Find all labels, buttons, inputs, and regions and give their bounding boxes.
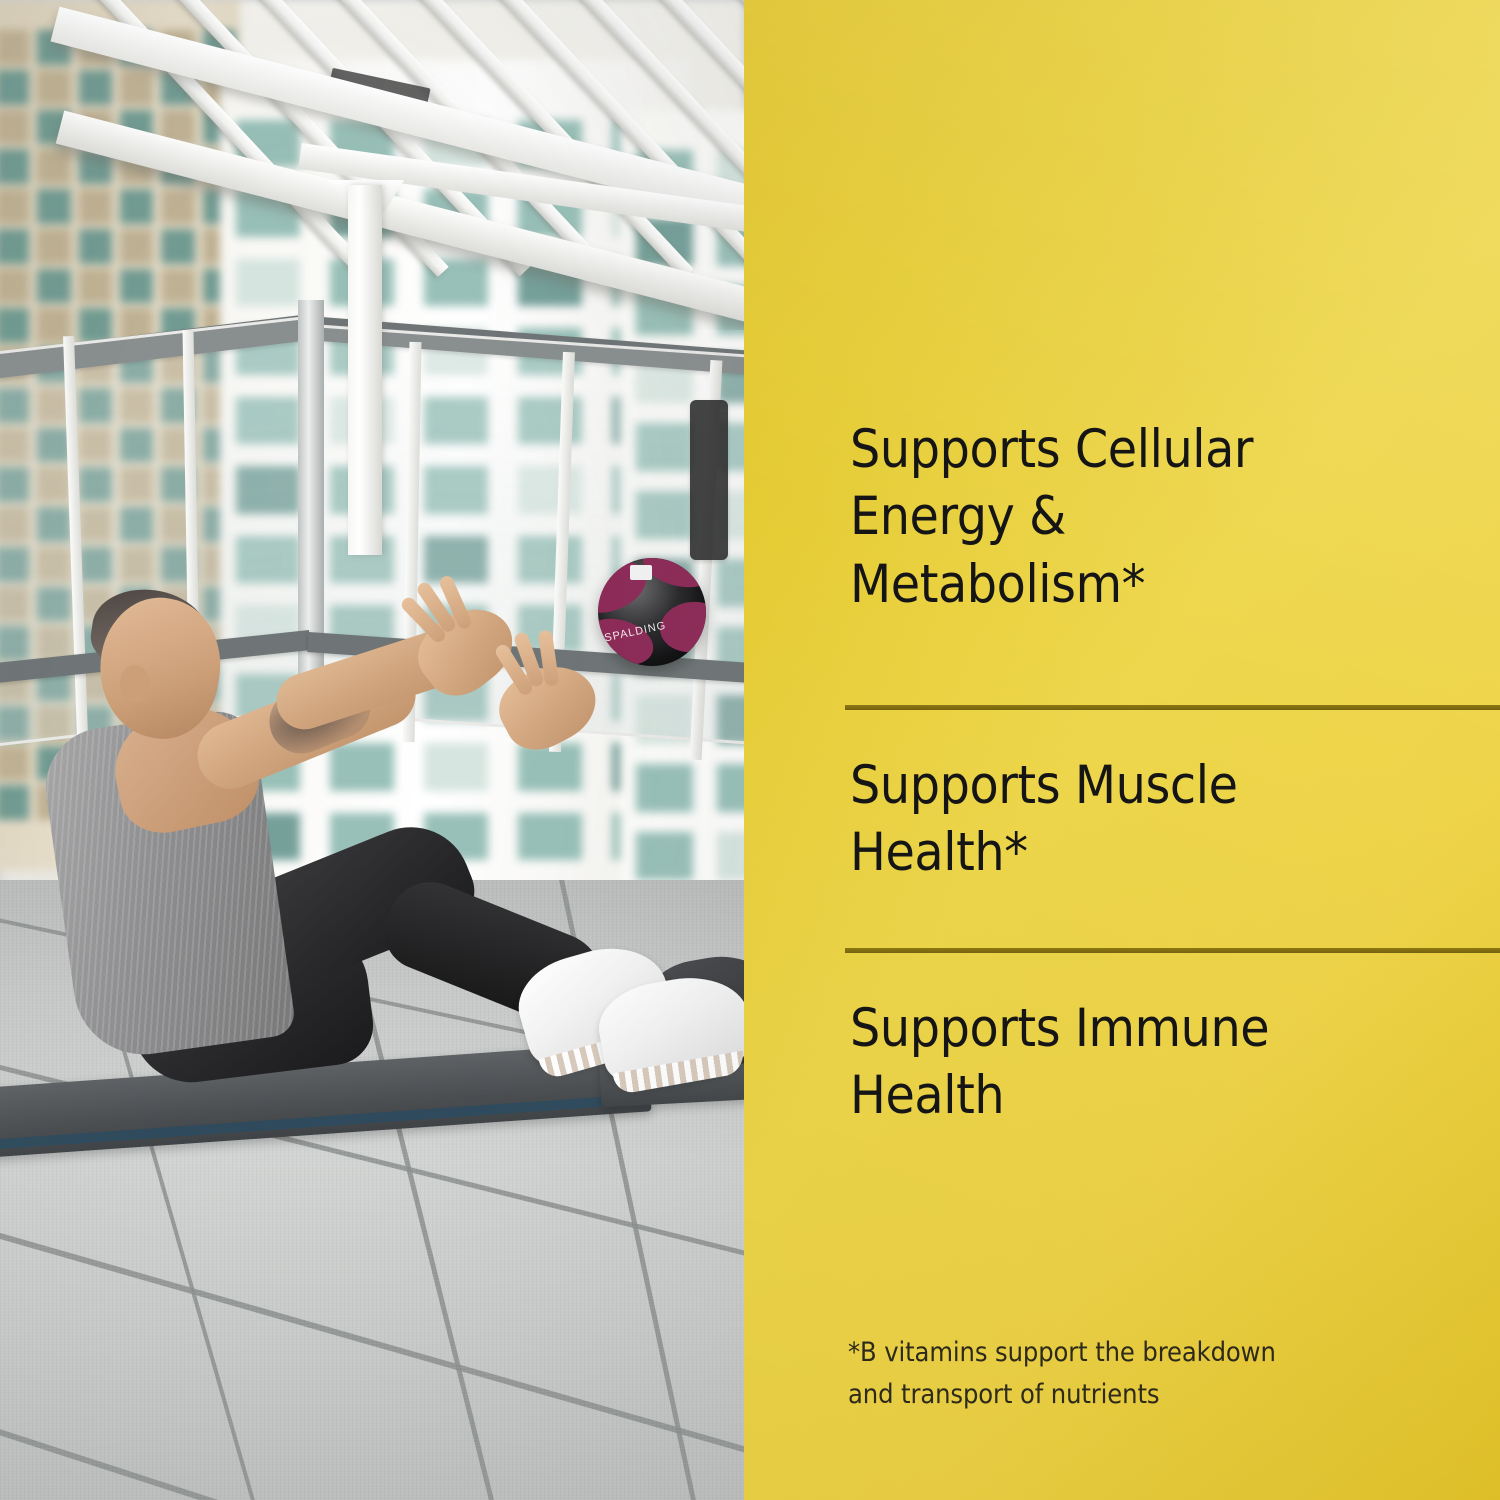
person-hand-front (488, 650, 608, 762)
benefits-panel: Supports Cellular Energy & Metabolism* S… (744, 0, 1500, 1500)
pergola-post (348, 185, 382, 555)
railing-bollard (690, 400, 728, 560)
product-benefits-graphic: SPALDING Supports Cellular Energy & Meta… (0, 0, 1500, 1500)
person-ear (120, 665, 150, 703)
medicine-ball-tag (630, 565, 652, 580)
benefits-footnote: *B vitamins support the breakdown and tr… (848, 1332, 1468, 1416)
benefit-muscle-health: Supports Muscle Health* (850, 752, 1500, 887)
floor-grout (0, 1210, 744, 1500)
medicine-ball: SPALDING (598, 558, 706, 666)
benefit-cellular-energy: Supports Cellular Energy & Metabolism* (850, 416, 1500, 618)
lifestyle-photo: SPALDING (0, 0, 744, 1500)
benefit-immune-health: Supports Immune Health (850, 995, 1500, 1130)
floor-grout (0, 1400, 744, 1500)
benefit-divider-1 (845, 705, 1500, 710)
benefit-divider-2 (845, 948, 1500, 953)
